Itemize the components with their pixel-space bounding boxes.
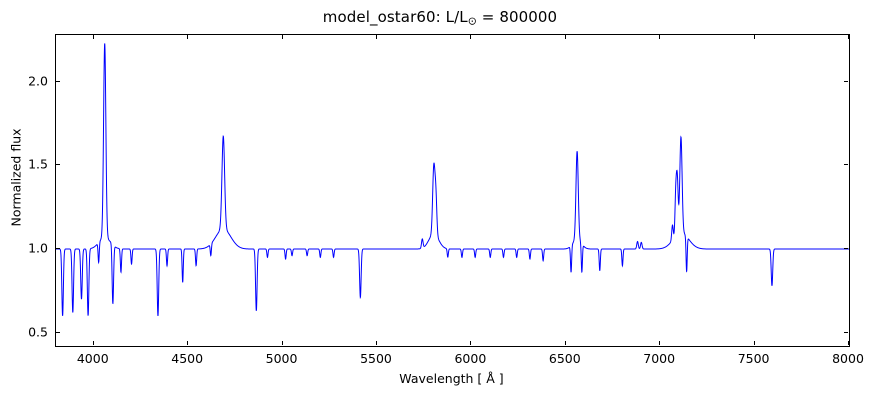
y-tick-mark-right [844,248,848,249]
x-tick-label: 6000 [454,351,486,366]
y-axis-label: Normalized flux [9,78,24,278]
x-axis-label: Wavelength [ Å ] [55,371,848,386]
sun-symbol-icon: ⊙ [468,14,477,27]
y-tick-mark [56,164,60,165]
x-tick-mark [659,341,660,345]
y-tick-mark [56,81,60,82]
x-tick-mark [93,341,94,345]
title-luminosity-value: 800000 [499,8,557,26]
title-equals: = [482,8,495,26]
x-tick-mark-top [187,35,188,39]
x-tick-mark-top [282,35,283,39]
x-tick-mark [565,341,566,345]
x-tick-mark-top [470,35,471,39]
title-luminosity-prefix: L/L [446,8,468,26]
y-tick-mark-right [844,332,848,333]
x-tick-label: 6500 [549,351,581,366]
x-tick-mark [282,341,283,345]
spectrum-line-series [56,35,849,346]
x-tick-mark [376,341,377,345]
x-tick-label: 7500 [738,351,770,366]
y-tick-mark-right [844,81,848,82]
x-tick-label: 4500 [171,351,203,366]
y-tick-mark-right [844,164,848,165]
x-tick-label: 5500 [360,351,392,366]
spectrum-figure: model_ostar60: L/L⊙ = 800000 40004500500… [0,0,880,400]
x-tick-label: 7000 [643,351,675,366]
x-tick-mark-top [848,35,849,39]
x-tick-mark-top [376,35,377,39]
y-tick-mark [56,332,60,333]
x-tick-mark-top [754,35,755,39]
plot-area [55,34,850,347]
x-tick-mark [848,341,849,345]
x-tick-mark [470,341,471,345]
x-tick-mark-top [93,35,94,39]
x-tick-label: 4000 [77,351,109,366]
title-model-name: model_ostar60: [323,8,441,26]
x-tick-mark-top [565,35,566,39]
page-title: model_ostar60: L/L⊙ = 800000 [0,8,880,27]
x-tick-label: 5000 [266,351,298,366]
x-tick-mark [187,341,188,345]
y-tick-label: 0.5 [8,324,48,339]
x-tick-mark [754,341,755,345]
y-tick-mark [56,248,60,249]
x-tick-mark-top [659,35,660,39]
x-tick-label: 8000 [832,351,864,366]
